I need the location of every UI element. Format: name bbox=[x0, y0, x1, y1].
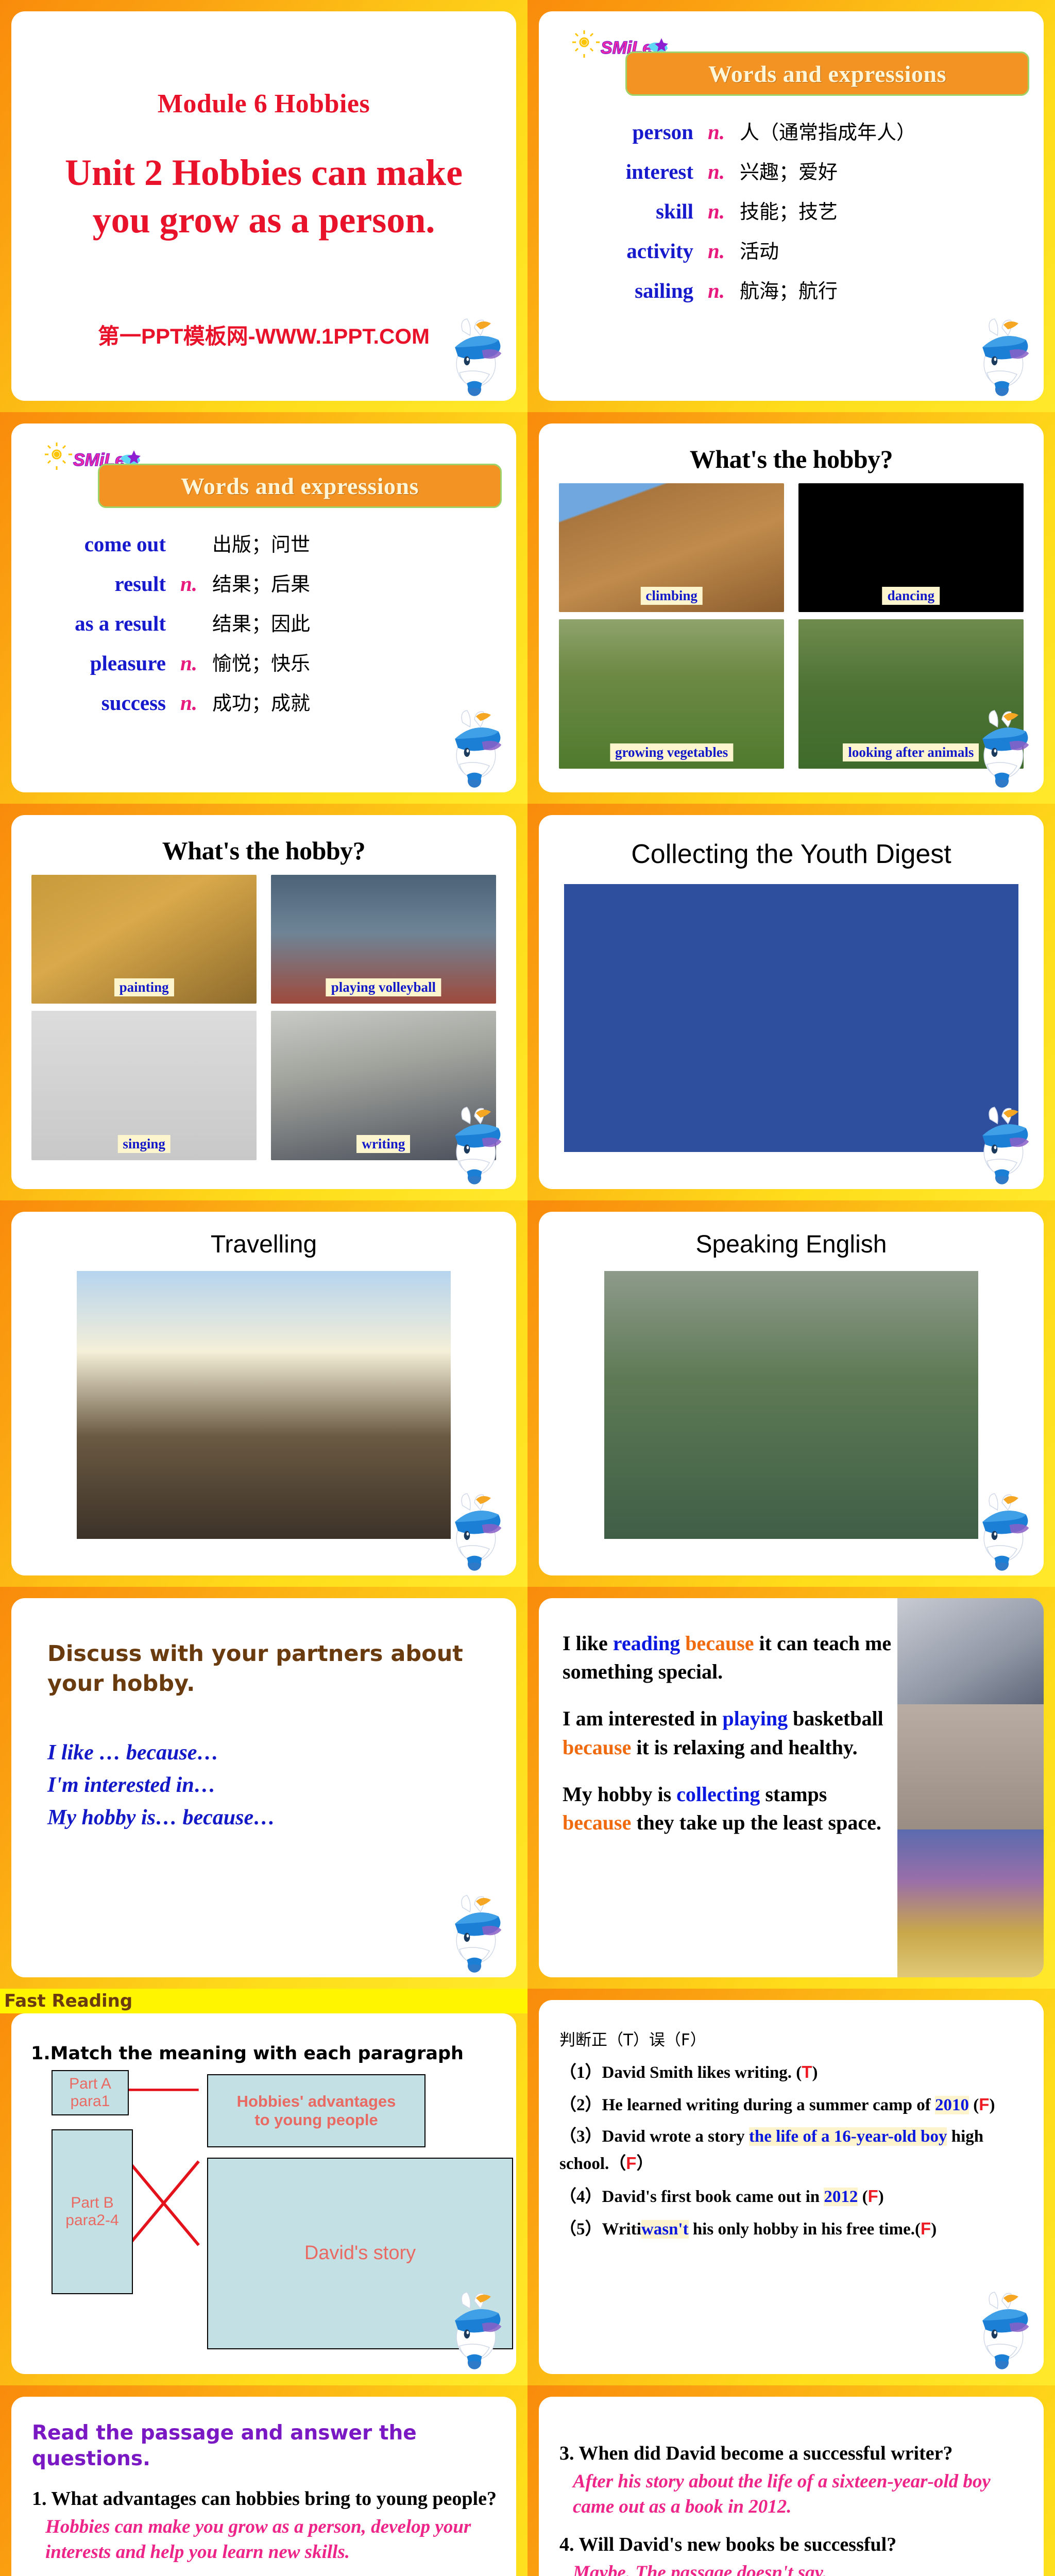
vocab-row: sailingn.航海；航行 bbox=[570, 275, 1020, 303]
page-title: Collecting the Youth Digest bbox=[539, 815, 1044, 870]
vocab-pos: n. bbox=[180, 690, 212, 715]
slide-read-answer-1: Read the passage and answer the question… bbox=[0, 2385, 527, 2576]
vocab-meaning: 技能；技艺 bbox=[740, 196, 838, 224]
vocab-meaning: 活动 bbox=[740, 235, 779, 264]
unit-title: Unit 2 Hobbies can make you grow as a pe… bbox=[47, 149, 481, 244]
photo-dancing: dancing bbox=[798, 483, 1024, 612]
slide-title: Module 6 Hobbies Unit 2 Hobbies can make… bbox=[0, 0, 527, 412]
sentence-reading: I like reading because it can teach me s… bbox=[563, 1629, 899, 1686]
photo-travelling bbox=[77, 1271, 450, 1539]
mascot-icon bbox=[436, 1894, 513, 1976]
answer-1: Hobbies can make you grow as a person, d… bbox=[45, 2515, 499, 2565]
vocab-list: come out出版；问世 resultn.结果；后果 as a result结… bbox=[11, 529, 516, 716]
vocab-word: activity bbox=[570, 239, 708, 263]
photo-caption: singing bbox=[117, 1135, 171, 1153]
words-banner: Words and expressions bbox=[625, 52, 1029, 96]
photo-caption: writing bbox=[356, 1135, 410, 1153]
photo-caption: looking after animals bbox=[843, 743, 979, 761]
slide-hobby-1: What's the hobby? climbing dancing growi… bbox=[527, 412, 1055, 804]
tf-item: （1）David Smith likes writing. (T) bbox=[559, 2059, 1028, 2086]
vocab-pos: n. bbox=[708, 239, 740, 263]
vocab-meaning: 结果；后果 bbox=[212, 568, 310, 597]
photo-caption: growing vegetables bbox=[610, 743, 733, 761]
vocab-row: activityn.活动 bbox=[570, 235, 1020, 264]
slide-words-1: SMiLe Words and expressions personn.人（通常… bbox=[527, 0, 1055, 412]
example-sentences: I like reading because it can teach me s… bbox=[539, 1598, 899, 1977]
vocab-list: personn.人（通常指成年人） interestn.兴趣；爱好 skilln… bbox=[539, 116, 1044, 303]
photo-caption: painting bbox=[114, 978, 174, 996]
match-davids-story[interactable]: David's story bbox=[207, 2158, 513, 2349]
photo-stamps bbox=[897, 1829, 1044, 1977]
photo-singing: singing bbox=[31, 1011, 257, 1160]
vocab-pos: n. bbox=[708, 120, 740, 144]
answer-4: Maybe. The passage doesn't say. bbox=[573, 2561, 1026, 2576]
photo-caption: dancing bbox=[882, 587, 940, 605]
watermark: 第一PPT模板网-WWW.1PPT.COM bbox=[98, 319, 430, 350]
photo-caption: climbing bbox=[640, 587, 703, 605]
vocab-row: skilln.技能；技艺 bbox=[570, 196, 1020, 224]
vocab-word: person bbox=[570, 120, 708, 144]
module-title: Module 6 Hobbies bbox=[158, 89, 370, 119]
vocab-meaning: 成功；成就 bbox=[212, 687, 310, 716]
vocab-pos: n. bbox=[180, 651, 212, 675]
vocab-meaning: 航海；航行 bbox=[740, 275, 838, 303]
vocab-pos: n. bbox=[708, 278, 740, 303]
slide-discuss: Discuss with your partners about your ho… bbox=[0, 1587, 527, 1989]
vocab-meaning: 兴趣；爱好 bbox=[740, 156, 838, 184]
photo-grid: painting playing volleyball singing writ… bbox=[31, 875, 496, 1160]
vocab-row: as a result结果；因此 bbox=[42, 608, 492, 636]
vocab-meaning: 愉悦；快乐 bbox=[212, 648, 310, 676]
vocab-pos: n. bbox=[708, 159, 740, 184]
vocab-word: as a result bbox=[42, 611, 180, 636]
mascot-icon bbox=[963, 317, 1041, 400]
mascot-icon bbox=[436, 317, 513, 400]
photo-painting: painting bbox=[31, 875, 257, 1004]
photo-speaking-english bbox=[604, 1271, 978, 1539]
prompt-item: I like … because… bbox=[47, 1737, 480, 1769]
photo-reading bbox=[897, 1598, 1044, 1704]
photo-basketball bbox=[897, 1704, 1044, 1829]
page-title: Speaking English bbox=[539, 1212, 1044, 1259]
match-part-a[interactable]: Part A para1 bbox=[52, 2070, 129, 2115]
slide-speaking-english: Speaking English bbox=[527, 1200, 1055, 1587]
tf-item: （2）He learned writing during a summer ca… bbox=[559, 2091, 1028, 2119]
photo-playing-volleyball: playing volleyball bbox=[271, 875, 496, 1004]
tf-heading: 判断正（T）误（F） bbox=[559, 2028, 1028, 2053]
vocab-row: personn.人（通常指成年人） bbox=[570, 116, 1020, 145]
discuss-prompts: I like … because… I'm interested in… My … bbox=[47, 1737, 480, 1834]
sentence-basketball: I am interested in playing basketball be… bbox=[563, 1704, 899, 1761]
slide-fast-reading: Fast Reading 1.Match the meaning with ea… bbox=[0, 1989, 527, 2385]
vocab-row: pleasuren.愉悦；快乐 bbox=[42, 648, 492, 676]
discuss-heading: Discuss with your partners about your ho… bbox=[47, 1639, 480, 1699]
sentence-stamps: My hobby is collecting stamps because th… bbox=[563, 1780, 899, 1837]
slide-words-2: SMiLe Words and expressions come out出版；问… bbox=[0, 412, 527, 804]
vocab-pos: n. bbox=[180, 571, 212, 596]
photo-caption: playing volleyball bbox=[326, 978, 441, 996]
prompt-item: My hobby is… because… bbox=[47, 1802, 480, 1834]
tf-item: （4）David's first book came out in 2012 (… bbox=[559, 2183, 1028, 2210]
slide-read-answer-2: 3. When did David become a successful wr… bbox=[527, 2385, 1055, 2576]
slide-deck: Module 6 Hobbies Unit 2 Hobbies can make… bbox=[0, 0, 1055, 2576]
mascot-icon bbox=[963, 2291, 1041, 2373]
photo-grid: climbing dancing growing vegetables look… bbox=[559, 483, 1024, 769]
question-3: 3. When did David become a successful wr… bbox=[559, 2441, 1026, 2466]
qa-heading: Read the passage and answer the question… bbox=[32, 2420, 499, 2472]
match-advantages[interactable]: Hobbies' advantages to young people bbox=[207, 2074, 426, 2147]
words-banner: Words and expressions bbox=[98, 464, 502, 508]
vocab-row: come out出版；问世 bbox=[42, 529, 492, 557]
match-part-b[interactable]: Part B para2-4 bbox=[52, 2129, 133, 2294]
vocab-row: resultn.结果；后果 bbox=[42, 568, 492, 597]
photo-writing: writing bbox=[271, 1011, 496, 1160]
question-4: 4. Will David's new books be successful? bbox=[559, 2532, 1026, 2557]
slide-hobby-2: What's the hobby? painting playing volle… bbox=[0, 804, 527, 1200]
side-photo-column bbox=[897, 1598, 1044, 1977]
page-title: What's the hobby? bbox=[539, 423, 1044, 474]
vocab-row: successn.成功；成就 bbox=[42, 687, 492, 716]
photo-climbing: climbing bbox=[559, 483, 784, 612]
tf-list: （1）David Smith likes writing. (T) （2）He … bbox=[559, 2059, 1028, 2243]
photo-looking-after-animals: looking after animals bbox=[798, 619, 1024, 769]
answer-3: After his story about the life of a sixt… bbox=[573, 2469, 1026, 2520]
vocab-row: interestn.兴趣；爱好 bbox=[570, 156, 1020, 184]
slide-true-false: 判断正（T）误（F） （1）David Smith likes writing.… bbox=[527, 1989, 1055, 2385]
vocab-pos: n. bbox=[708, 199, 740, 224]
vocab-word: success bbox=[42, 690, 180, 715]
vocab-word: pleasure bbox=[42, 651, 180, 675]
slide-collecting: Collecting the Youth Digest bbox=[527, 804, 1055, 1200]
vocab-word: result bbox=[42, 571, 180, 596]
vocab-word: sailing bbox=[570, 278, 708, 303]
prompt-item: I'm interested in… bbox=[47, 1769, 480, 1802]
page-title: Travelling bbox=[11, 1212, 516, 1259]
slide-travelling: Travelling bbox=[0, 1200, 527, 1587]
fast-reading-banner: Fast Reading bbox=[0, 1989, 527, 2013]
vocab-word: skill bbox=[570, 199, 708, 224]
page-title: What's the hobby? bbox=[11, 815, 516, 866]
vocab-meaning: 结果；因此 bbox=[212, 608, 310, 636]
photo-magazines bbox=[564, 884, 1018, 1152]
slide-because-examples: I like reading because it can teach me s… bbox=[527, 1587, 1055, 1989]
photo-growing-vegetables: growing vegetables bbox=[559, 619, 784, 769]
tf-item: （3）David wrote a story the life of a 16-… bbox=[559, 2124, 1028, 2177]
vocab-word: come out bbox=[42, 532, 180, 556]
vocab-meaning: 人（通常指成年人） bbox=[740, 116, 916, 145]
tf-item: （5）Writiwasn't his only hobby in his fre… bbox=[559, 2215, 1028, 2243]
vocab-word: interest bbox=[570, 159, 708, 184]
vocab-meaning: 出版；问世 bbox=[212, 529, 310, 557]
question-1: 1. What advantages can hobbies bring to … bbox=[32, 2486, 499, 2512]
mascot-icon bbox=[436, 709, 513, 791]
